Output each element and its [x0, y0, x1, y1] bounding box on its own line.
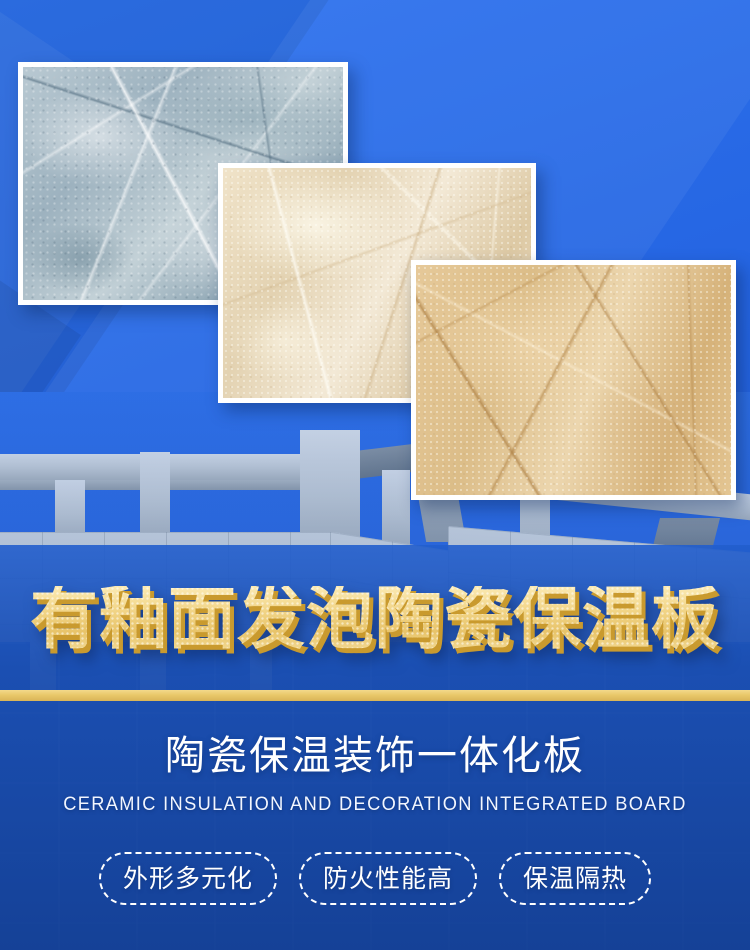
page-title: 有釉面发泡陶瓷保温板	[0, 586, 750, 654]
subtitle-english: CERAMIC INSULATION AND DECORATION INTEGR…	[15, 794, 735, 817]
subtitle-chinese: 陶瓷保温装饰一体化板	[0, 733, 750, 779]
tile-sample-golden[interactable]	[411, 260, 736, 500]
feature-pill-group: 外形多元化 防火性能高 保温隔热	[0, 852, 750, 905]
gold-divider	[0, 690, 750, 701]
feature-pill[interactable]: 保温隔热	[499, 852, 651, 905]
feature-pill[interactable]: 防火性能高	[299, 852, 477, 905]
product-promo-banner: 有釉面发泡陶瓷保温板 陶瓷保温装饰一体化板 CERAMIC INSULATION…	[0, 0, 750, 950]
tile-texture	[416, 265, 731, 495]
feature-pill[interactable]: 外形多元化	[99, 852, 277, 905]
tile-speckle	[416, 265, 731, 495]
